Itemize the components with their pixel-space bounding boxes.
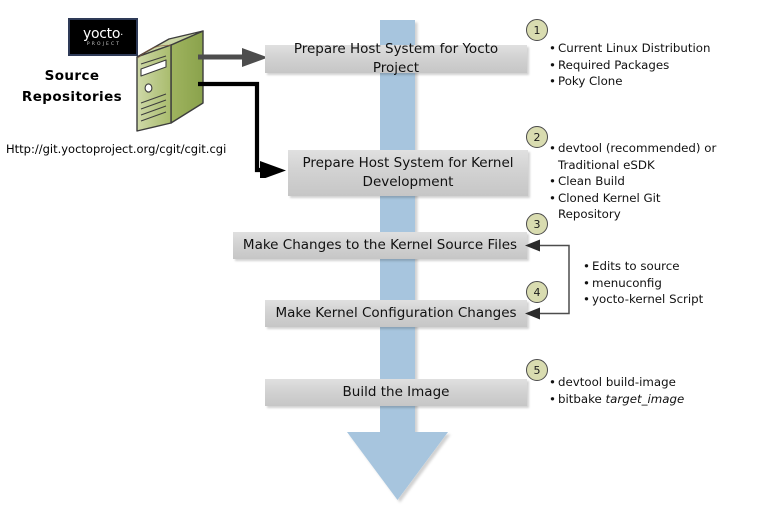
connector-bracket-step3-step4 xyxy=(524,236,580,322)
list-item: • Poky Clone xyxy=(549,73,764,90)
bullet-marker: • xyxy=(549,374,558,391)
bullet-text: yocto-kernel Script xyxy=(592,291,763,308)
list-item: • devtool (recommended) or Traditional e… xyxy=(549,140,724,173)
step-circle-3: 3 xyxy=(526,213,548,235)
process-box-step4[interactable]: Make Kernel Configuration Changes xyxy=(265,300,527,327)
step-circle-1-number: 1 xyxy=(534,24,541,37)
bullet-text: devtool build-image xyxy=(558,374,749,391)
logo-wordmark: yocto· xyxy=(83,27,123,41)
source-label-line1: Source xyxy=(12,66,132,87)
process-box-step2-label-line2: Development xyxy=(363,173,454,192)
source-repositories-url: Http://git.yoctoproject.org/cgit/cgit.cg… xyxy=(6,142,226,156)
bullet-marker: • xyxy=(549,173,558,190)
bullet-marker: • xyxy=(549,40,558,57)
bullet-list-step2: • devtool (recommended) or Traditional e… xyxy=(549,140,724,223)
list-item: • yocto-kernel Script xyxy=(583,291,763,308)
bullet-marker: • xyxy=(549,73,558,90)
process-box-step3[interactable]: Make Changes to the Kernel Source Files xyxy=(233,232,527,259)
step-circle-4: 4 xyxy=(526,281,548,303)
bullet-marker: • xyxy=(583,275,592,292)
main-flow-arrow xyxy=(330,20,470,517)
logo-dot: · xyxy=(120,30,123,41)
bullet-marker: • xyxy=(549,140,558,157)
bullet-list-step5: • devtool build-image • bitbake target_i… xyxy=(549,374,749,407)
bullet-text: Required Packages xyxy=(558,57,764,74)
bullet-text: Current Linux Distribution xyxy=(558,40,764,57)
list-item: • Current Linux Distribution xyxy=(549,40,764,57)
process-box-step1-label: Prepare Host System for Yocto Project xyxy=(273,40,519,78)
process-box-step4-label: Make Kernel Configuration Changes xyxy=(275,304,516,323)
bullet-marker: • xyxy=(583,258,592,275)
bullet-list-step1: • Current Linux Distribution • Required … xyxy=(549,40,764,90)
list-item: • Edits to source xyxy=(583,258,763,275)
process-box-step1[interactable]: Prepare Host System for Yocto Project xyxy=(265,45,527,73)
bullet-marker: • xyxy=(549,190,558,207)
process-box-step5[interactable]: Build the Image xyxy=(265,379,527,406)
bullet-text-italic: target_image xyxy=(606,392,685,406)
list-item: • menuconfig xyxy=(583,275,763,292)
process-box-step3-label: Make Changes to the Kernel Source Files xyxy=(243,236,517,255)
process-box-step5-label: Build the Image xyxy=(343,383,450,402)
bullet-marker: • xyxy=(583,291,592,308)
process-box-step2[interactable]: Prepare Host System for Kernel Developme… xyxy=(288,150,528,196)
bullet-text: Poky Clone xyxy=(558,73,764,90)
bullet-text: Cloned Kernel Git Repository xyxy=(558,190,724,223)
step-circle-5-number: 5 xyxy=(534,364,541,377)
connector-server-to-step2 xyxy=(198,80,288,178)
list-item: • bitbake target_image xyxy=(549,391,749,408)
step-circle-4-number: 4 xyxy=(534,286,541,299)
diagram-canvas: yocto· PROJECT Source Repositories Http:… xyxy=(0,0,769,517)
bullet-marker: • xyxy=(549,391,558,408)
bullet-text: menuconfig xyxy=(592,275,763,292)
source-label-line2: Repositories xyxy=(12,87,132,108)
list-item: • devtool build-image xyxy=(549,374,749,391)
step-circle-2-number: 2 xyxy=(534,131,541,144)
bullet-marker: • xyxy=(549,57,558,74)
yocto-project-logo: yocto· PROJECT xyxy=(68,18,138,56)
list-item: • Cloned Kernel Git Repository xyxy=(549,190,724,223)
bullet-text: bitbake target_image xyxy=(558,391,749,408)
list-item: • Required Packages xyxy=(549,57,764,74)
logo-subtext: PROJECT xyxy=(85,43,121,48)
process-box-step2-label-line1: Prepare Host System for Kernel xyxy=(302,154,513,173)
step-circle-3-number: 3 xyxy=(534,218,541,231)
bullet-text: devtool (recommended) or Traditional eSD… xyxy=(558,140,724,173)
bullet-text: Clean Build xyxy=(558,173,724,190)
step-circle-5: 5 xyxy=(526,359,548,381)
logo-word-text: yocto xyxy=(83,26,120,42)
step-circle-1: 1 xyxy=(526,19,548,41)
connector-server-to-step1 xyxy=(198,45,272,71)
bullet-text-plain: bitbake xyxy=(558,392,606,406)
list-item: • Clean Build xyxy=(549,173,724,190)
bullet-list-step3-step4: • Edits to source • menuconfig • yocto-k… xyxy=(583,258,763,308)
bullet-text: Edits to source xyxy=(592,258,763,275)
source-repositories-label: Source Repositories xyxy=(12,66,132,108)
step-circle-2: 2 xyxy=(526,126,548,148)
